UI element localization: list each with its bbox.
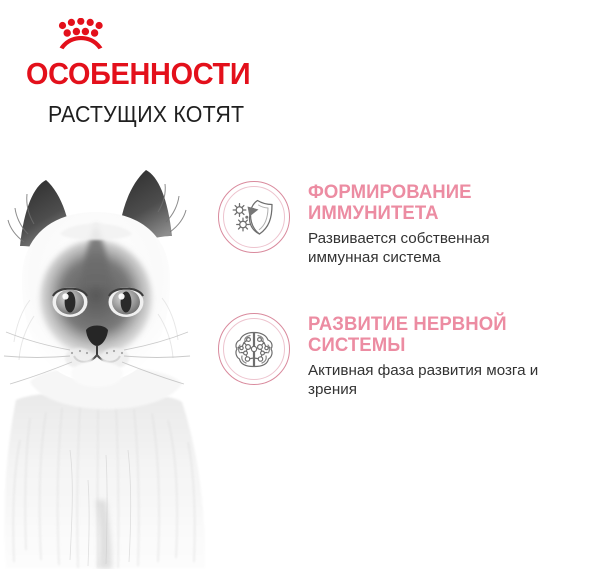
brain-neural-icon (218, 313, 290, 385)
feature-body: Активная фаза развития мозга и зрения (308, 361, 558, 399)
page-title: ОСОБЕННОСТИ (26, 57, 250, 91)
page-subtitle: РАСТУЩИХ КОТЯТ (48, 101, 244, 127)
royal-canin-crown-icon (58, 18, 104, 50)
feature-text-block: РАЗВИТИЕ НЕРВНОЙ СИСТЕМЫ Активная фаза р… (308, 313, 558, 399)
feature-heading: ФОРМИРОВАНИЕ ИММУНИТЕТА (308, 182, 527, 224)
feature-item-nervous-system: РАЗВИТИЕ НЕРВНОЙ СИСТЕМЫ Активная фаза р… (218, 313, 590, 399)
feature-body: Развивается собственная иммунная система (308, 229, 558, 267)
kitten-photo (0, 150, 215, 569)
infographic-page: ОСОБЕННОСТИ РАСТУЩИХ КОТЯТ (0, 0, 600, 569)
feature-text-block: ФОРМИРОВАНИЕ ИММУНИТЕТА Развивается собс… (308, 181, 558, 267)
feature-item-immunity: ФОРМИРОВАНИЕ ИММУНИТЕТА Развивается собс… (218, 181, 590, 267)
shield-immunity-icon (218, 181, 290, 253)
feature-heading: РАЗВИТИЕ НЕРВНОЙ СИСТЕМЫ (308, 314, 527, 356)
